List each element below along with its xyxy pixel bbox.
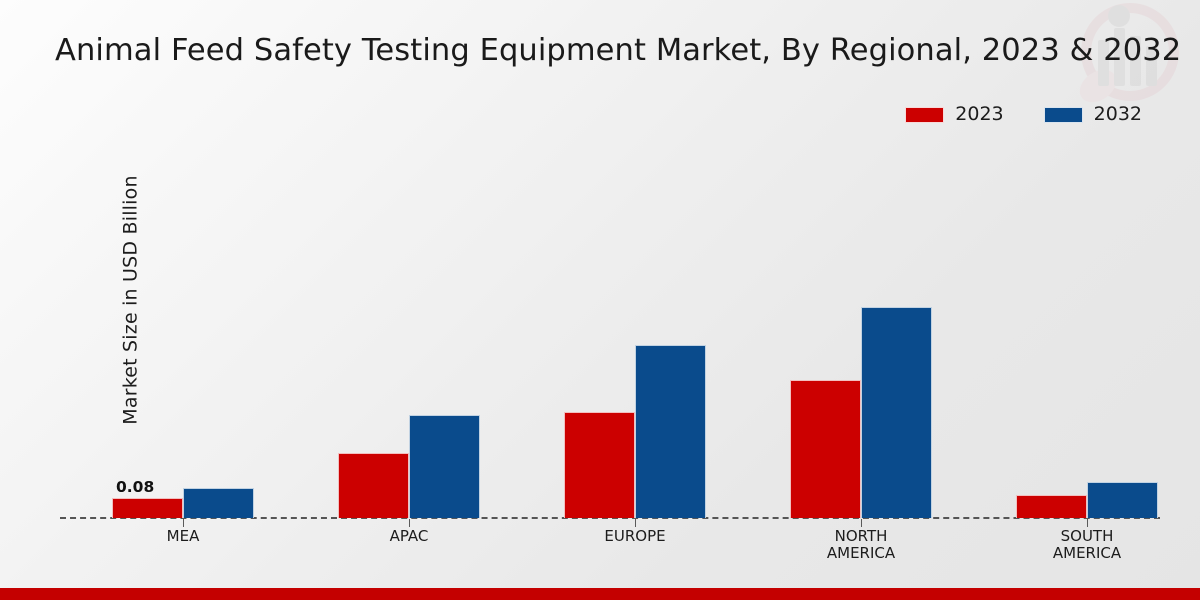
bar-mea-2023[interactable]: [112, 498, 183, 518]
tick-mea: [183, 519, 184, 527]
bar-north-america-2032[interactable]: [861, 307, 932, 518]
footer-accent-band: [0, 588, 1200, 600]
bar-apac-2032[interactable]: [409, 415, 480, 518]
category-label-north-america-line1: NORTH: [761, 528, 961, 545]
bar-north-america-2023[interactable]: [790, 380, 861, 518]
category-label-apac: APAC: [309, 528, 509, 545]
value-label-mea-2023: 0.08: [116, 478, 154, 496]
bar-europe-2023[interactable]: [564, 412, 635, 518]
bar-group-north-america: [790, 218, 932, 518]
category-label-mea: MEA: [83, 528, 283, 545]
category-label-south-america-line1: SOUTH: [987, 528, 1187, 545]
bar-group-south-america: [1016, 218, 1158, 518]
bar-europe-2032[interactable]: [635, 345, 706, 518]
category-label-north-america-line2: AMERICA: [761, 545, 961, 562]
tick-apac: [409, 519, 410, 527]
bar-group-mea: [112, 218, 254, 518]
tick-north-america: [861, 519, 862, 527]
bar-group-apac: [338, 218, 480, 518]
category-label-south-america: SOUTH AMERICA: [987, 528, 1187, 562]
category-label-south-america-line2: AMERICA: [987, 545, 1187, 562]
bar-south-america-2032[interactable]: [1087, 482, 1158, 518]
category-label-apac-line1: APAC: [309, 528, 509, 545]
category-label-north-america: NORTH AMERICA: [761, 528, 961, 562]
category-label-europe-line1: EUROPE: [535, 528, 735, 545]
category-label-europe: EUROPE: [535, 528, 735, 545]
tick-europe: [635, 519, 636, 527]
plot-area: 0.08 MEA APAC EUROPE NORTH: [0, 0, 1200, 600]
category-label-mea-line1: MEA: [83, 528, 283, 545]
chart-container: Animal Feed Safety Testing Equipment Mar…: [0, 0, 1200, 600]
bar-group-europe: [564, 218, 706, 518]
bar-apac-2023[interactable]: [338, 453, 409, 518]
bar-mea-2032[interactable]: [183, 488, 254, 518]
tick-south-america: [1087, 519, 1088, 527]
bar-south-america-2023[interactable]: [1016, 495, 1087, 518]
